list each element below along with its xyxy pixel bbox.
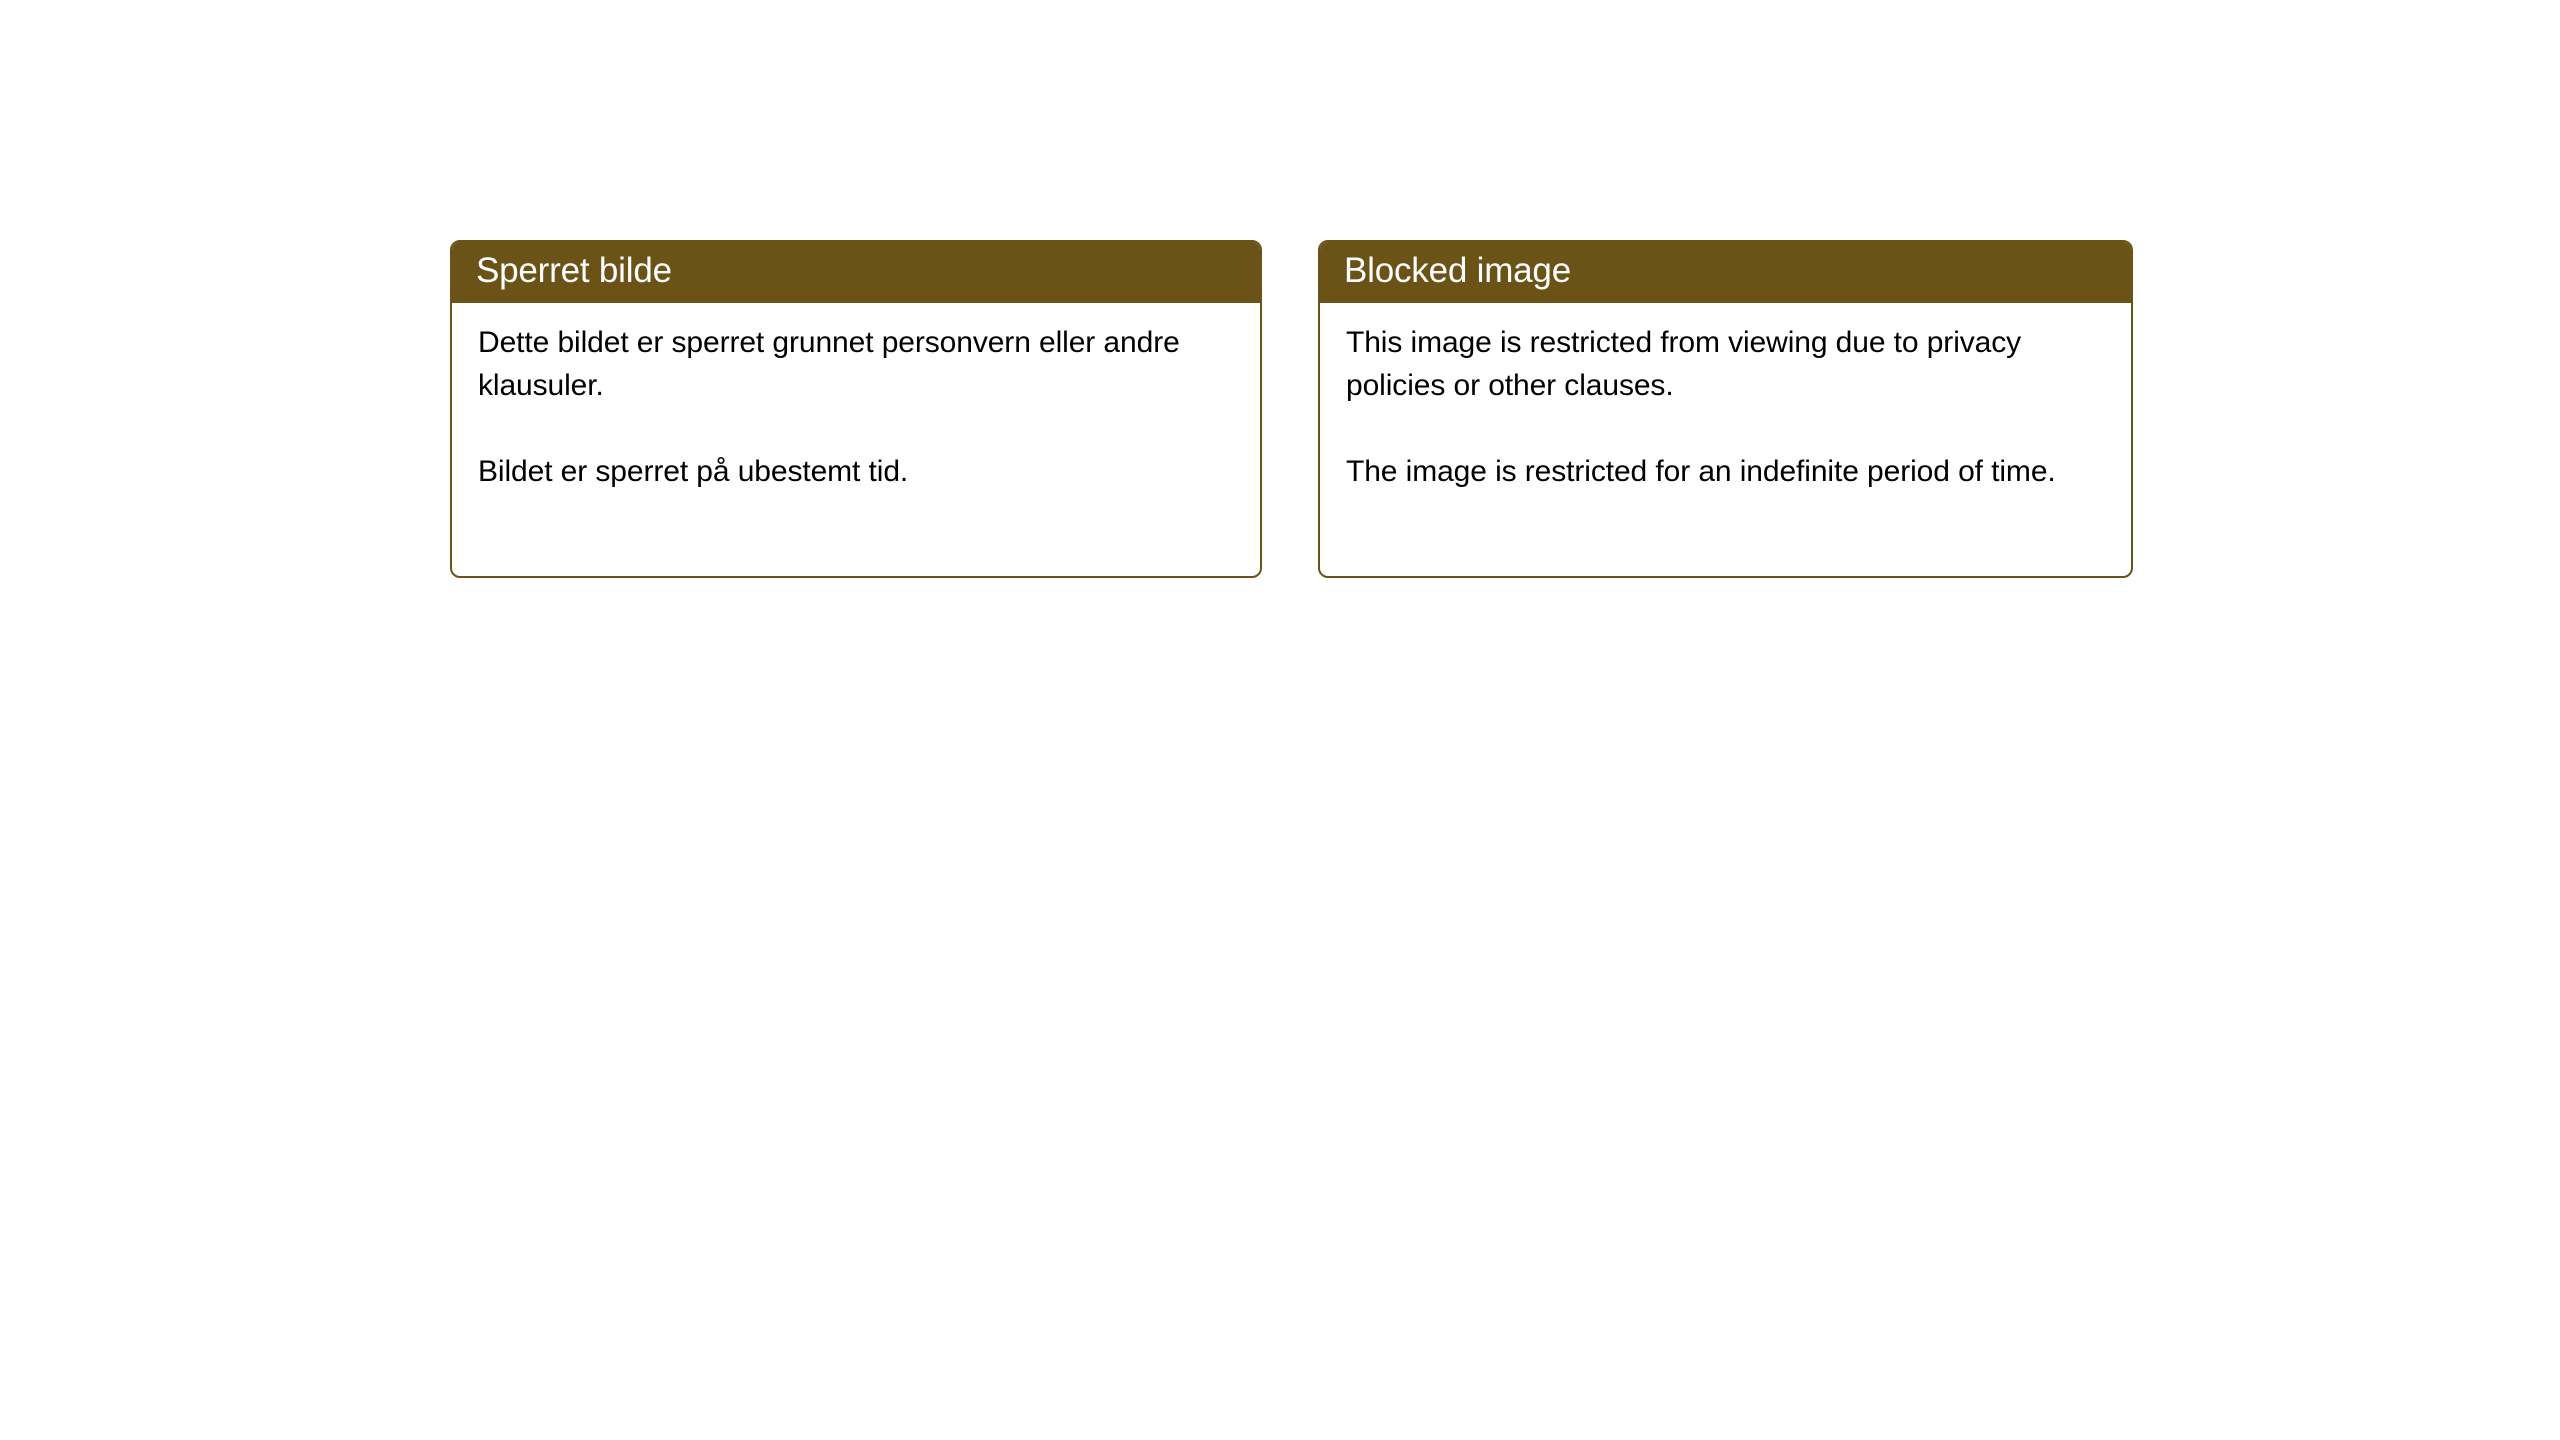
blocked-image-card-norwegian: Sperret bilde Dette bildet er sperret gr… [450,240,1262,578]
page-root: Sperret bilde Dette bildet er sperret gr… [0,0,2560,1440]
card-body-norwegian: Dette bildet er sperret grunnet personve… [452,303,1260,493]
card-paragraph-secondary-english: The image is restricted for an indefinit… [1346,450,2107,493]
card-title-norwegian: Sperret bilde [476,253,672,291]
card-paragraph-secondary-norwegian: Bildet er sperret på ubestemt tid. [478,450,1236,493]
card-title-english: Blocked image [1344,253,1571,291]
blocked-image-card-english: Blocked image This image is restricted f… [1318,240,2133,578]
card-header-norwegian: Sperret bilde [451,241,1261,303]
card-body-english: This image is restricted from viewing du… [1320,303,2131,493]
card-paragraph-primary-english: This image is restricted from viewing du… [1346,321,2107,407]
card-header-english: Blocked image [1319,241,2132,303]
card-paragraph-primary-norwegian: Dette bildet er sperret grunnet personve… [478,321,1236,407]
